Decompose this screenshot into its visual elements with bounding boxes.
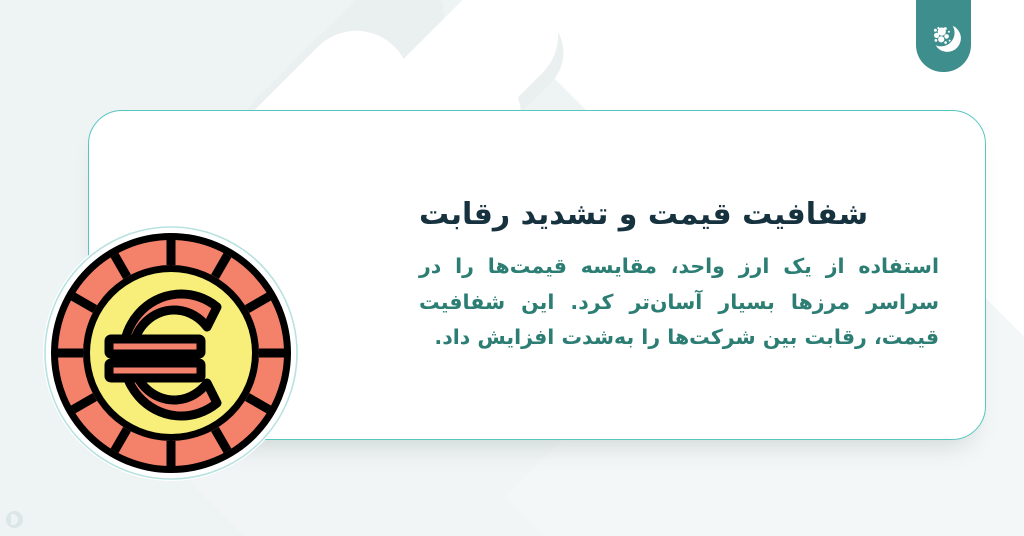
card-title: شفافیت قیمت و تشدید رقابت (419, 195, 868, 236)
card-body-text: استفاده از یک ارز واحد، مقایسه قیمت‌ها ر… (419, 249, 939, 355)
corner-watermark-icon (6, 511, 23, 528)
molecule-bubbles-logo-icon (927, 19, 961, 53)
brand-badge[interactable] (916, 0, 971, 72)
slide-canvas: شفافیت قیمت و تشدید رقابت استفاده از یک … (0, 0, 1024, 536)
euro-coin-icon (40, 222, 302, 484)
